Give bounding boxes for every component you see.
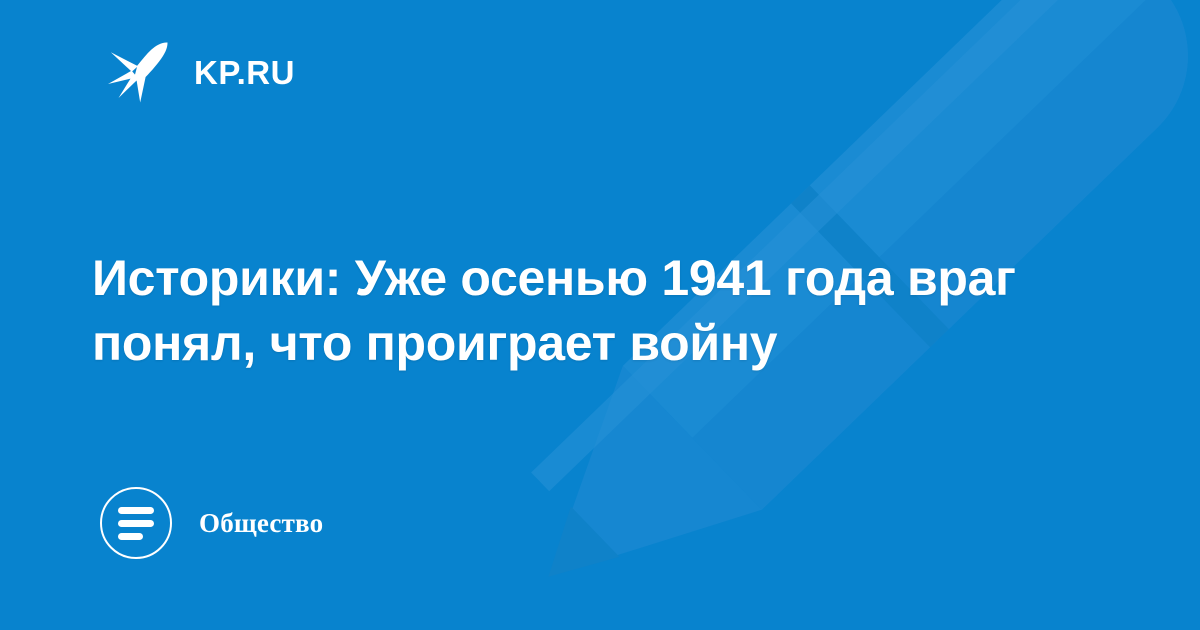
menu-bar-bottom	[118, 533, 143, 540]
menu-bar-middle	[118, 520, 154, 527]
category-label: Общество	[199, 508, 323, 539]
brand-name: KP.RU	[194, 56, 295, 89]
menu-bar-top	[118, 507, 154, 514]
swallow-bird-icon	[104, 36, 176, 108]
page-title: Историки: Уже осенью 1941 года враг поня…	[92, 246, 1092, 376]
share-card: KP.RU Историки: Уже осенью 1941 года вра…	[0, 0, 1200, 630]
hamburger-menu-icon[interactable]	[100, 487, 172, 559]
category-badge[interactable]: Общество	[100, 487, 323, 559]
brand-lockup[interactable]: KP.RU	[104, 36, 295, 108]
